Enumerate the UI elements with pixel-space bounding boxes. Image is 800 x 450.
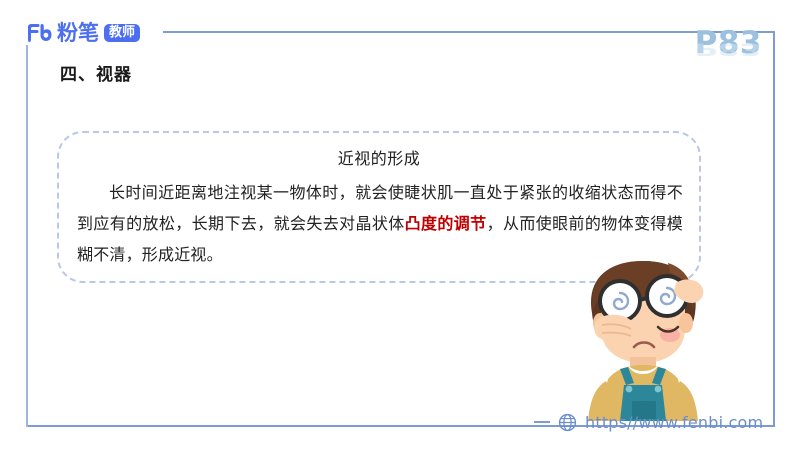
- page-number-reflection: P83: [695, 40, 762, 57]
- fb-monogram-icon: [26, 23, 52, 43]
- slide-canvas: 粉笔 教师 P83 P83 四、视器 近视的形成 长时间近距离地注视某一物体时，…: [0, 0, 800, 450]
- brand-badge-teacher: 教师: [104, 24, 140, 42]
- frame-left-line: [26, 45, 28, 427]
- frame-right-line: [773, 31, 775, 427]
- footer-url[interactable]: https//www.fenbi.com: [585, 413, 763, 432]
- globe-icon: [558, 413, 577, 432]
- brand-logo: 粉笔 教师: [26, 20, 140, 46]
- page-number: P83 P83: [695, 28, 762, 88]
- brand-wordmark: 粉笔: [57, 23, 99, 44]
- boy-rubbing-eyes-illustration: [548, 253, 738, 423]
- paragraph-highlight: 凸度的调节: [405, 214, 487, 233]
- content-box-title: 近视的形成: [59, 145, 699, 169]
- footer-divider: [534, 421, 550, 423]
- section-heading: 四、视器: [60, 60, 132, 85]
- frame-top-line: [163, 31, 775, 33]
- footer: https//www.fenbi.com: [534, 410, 763, 434]
